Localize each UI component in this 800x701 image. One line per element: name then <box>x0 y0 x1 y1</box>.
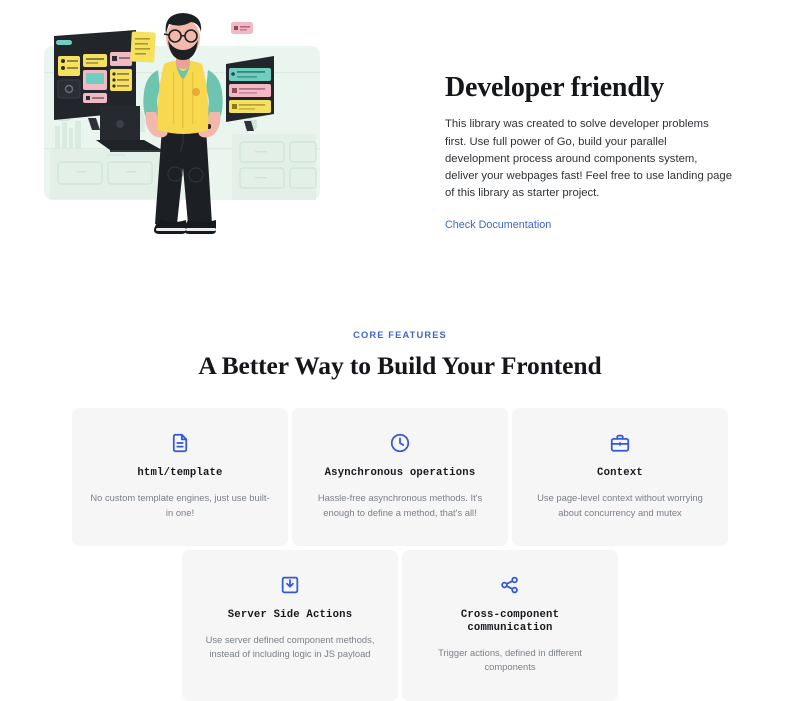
feature-card-title: Server Side Actions <box>228 609 353 622</box>
feature-card-description: Hassle-free asynchronous methods. It's e… <box>309 491 491 520</box>
feature-card-grid: html/template No custom template engines… <box>72 408 728 700</box>
document-icon <box>169 432 191 454</box>
feature-card[interactable]: Asynchronous operations Hassle-free asyn… <box>292 408 508 546</box>
hero-section: Developer friendly This library was crea… <box>0 0 800 300</box>
feature-card-description: No custom template engines, just use bui… <box>89 491 271 520</box>
check-documentation-link[interactable]: Check Documentation <box>445 219 551 231</box>
feature-card[interactable]: Cross-component communication Trigger ac… <box>402 550 618 701</box>
landing-page: Developer friendly This library was crea… <box>0 0 800 670</box>
core-features-section: CORE FEATURES A Better Way to Build Your… <box>0 330 800 701</box>
briefcase-icon <box>609 432 631 454</box>
feature-card-description: Use page-level context without worrying … <box>529 491 711 520</box>
download-box-icon <box>279 574 301 596</box>
developer-workspace-illustration <box>36 8 328 240</box>
section-title: A Better Way to Build Your Frontend <box>0 351 800 380</box>
feature-card-description: Trigger actions, defined in different co… <box>419 646 601 675</box>
hero-description: This library was created to solve develo… <box>445 116 733 202</box>
feature-card-title: Asynchronous operations <box>325 467 476 480</box>
feature-card-title: Cross-component communication <box>419 609 601 634</box>
feature-card-description: Use server defined component methods, in… <box>199 633 381 662</box>
section-eyebrow: CORE FEATURES <box>0 330 800 340</box>
share-nodes-icon <box>499 574 521 596</box>
feature-card-title: html/template <box>137 467 222 480</box>
feature-card[interactable]: html/template No custom template engines… <box>72 408 288 546</box>
feature-card-title: Context <box>597 467 643 480</box>
feature-card[interactable]: Context Use page-level context without w… <box>512 408 728 546</box>
feature-card[interactable]: Server Side Actions Use server defined c… <box>182 550 398 701</box>
clock-icon <box>389 432 411 454</box>
hero-title: Developer friendly <box>445 72 733 103</box>
hero-copy: Developer friendly This library was crea… <box>445 72 733 233</box>
